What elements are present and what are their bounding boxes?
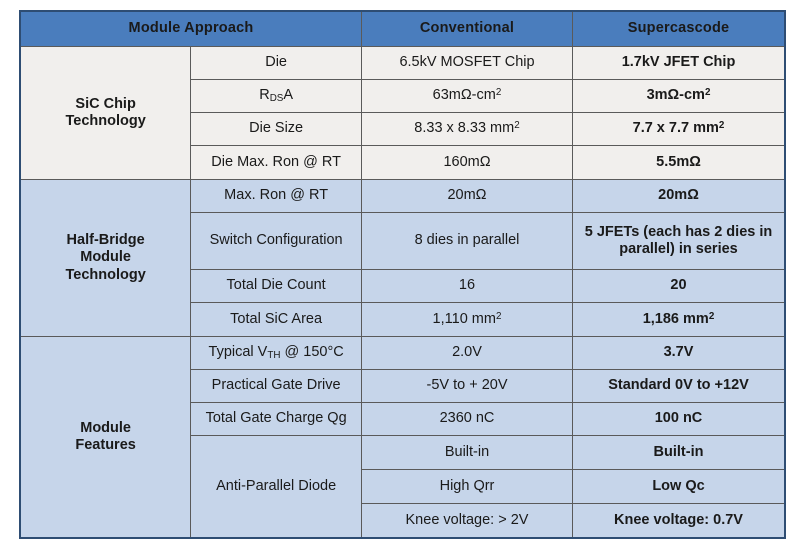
value-conventional-total-gate-charge-qg: 2360 nC [362, 403, 573, 436]
param-die-max-ron-rt: Die Max. Ron @ RT [191, 146, 362, 180]
param-total-die-count: Total Die Count [191, 270, 362, 303]
value-conventional-total-die-count: 16 [362, 270, 573, 303]
value-conventional-practical-gate-drive: -5V to + 20V [362, 370, 573, 403]
value-supercascode-total-gate-charge-qg: 100 nC [573, 403, 786, 436]
param-total-gate-charge-qg: Total Gate Charge Qg [191, 403, 362, 436]
group-label-line-2: Module [80, 249, 131, 265]
value-supercascode-practical-gate-drive: Standard 0V to +12V [573, 370, 786, 403]
value-conventional-switch-configuration: 8 dies in parallel [362, 213, 573, 270]
header-supercascode: Supercascode [573, 11, 786, 47]
table-row: Module Features Typical VTH @ 150°C 2.0V… [20, 337, 785, 370]
value-conventional-die: 6.5kV MOSFET Chip [362, 47, 573, 80]
group-label-line-1: Half-Bridge [67, 232, 145, 248]
value-conventional-total-sic-area: 1,110 mm2 [362, 303, 573, 337]
page-root: Module Approach Conventional Supercascod… [0, 0, 800, 552]
group-label-line-2: Features [75, 437, 135, 453]
header-module-approach: Module Approach [20, 11, 362, 47]
param-total-sic-area: Total SiC Area [191, 303, 362, 337]
value-supercascode-switch-configuration: 5 JFETs (each has 2 dies in parallel) in… [573, 213, 786, 270]
value-conventional-diode-builtin: Built-in [362, 436, 573, 470]
param-switch-configuration: Switch Configuration [191, 213, 362, 270]
param-anti-parallel-diode: Anti-Parallel Diode [191, 436, 362, 539]
group-label-half-bridge-module-technology: Half-Bridge Module Technology [20, 180, 191, 337]
table-row: SiC Chip Technology Die 6.5kV MOSFET Chi… [20, 47, 785, 80]
value-supercascode-die-size: 7.7 x 7.7 mm2 [573, 113, 786, 146]
header-row: Module Approach Conventional Supercascod… [20, 11, 785, 47]
value-supercascode-typical-vth: 3.7V [573, 337, 786, 370]
value-supercascode-die: 1.7kV JFET Chip [573, 47, 786, 80]
value-supercascode-rdsa: 3mΩ-cm2 [573, 80, 786, 113]
group-label-line-1: Module [80, 420, 131, 436]
param-die: Die [191, 47, 362, 80]
table-header: Module Approach Conventional Supercascod… [20, 11, 785, 47]
value-conventional-die-max-ron-rt: 160mΩ [362, 146, 573, 180]
value-supercascode-die-max-ron-rt: 5.5mΩ [573, 146, 786, 180]
value-conventional-diode-knee-voltage: Knee voltage: > 2V [362, 504, 573, 539]
header-conventional: Conventional [362, 11, 573, 47]
module-approach-comparison-table: Module Approach Conventional Supercascod… [19, 10, 786, 539]
value-conventional-rdsa: 63mΩ-cm2 [362, 80, 573, 113]
value-conventional-die-size: 8.33 x 8.33 mm2 [362, 113, 573, 146]
value-supercascode-diode-builtin: Built-in [573, 436, 786, 470]
group-label-module-features: Module Features [20, 337, 191, 539]
group-label-sic-chip-technology: SiC Chip Technology [20, 47, 191, 180]
param-max-ron-rt: Max. Ron @ RT [191, 180, 362, 213]
param-rdsa: RDSA [191, 80, 362, 113]
table-body: SiC Chip Technology Die 6.5kV MOSFET Chi… [20, 47, 785, 539]
param-practical-gate-drive: Practical Gate Drive [191, 370, 362, 403]
group-label-line-3: Technology [65, 267, 145, 283]
param-die-size: Die Size [191, 113, 362, 146]
value-supercascode-total-die-count: 20 [573, 270, 786, 303]
param-typical-vth: Typical VTH @ 150°C [191, 337, 362, 370]
value-supercascode-total-sic-area: 1,186 mm2 [573, 303, 786, 337]
table-row: Half-Bridge Module Technology Max. Ron @… [20, 180, 785, 213]
value-conventional-diode-qrr: High Qrr [362, 470, 573, 504]
value-conventional-max-ron-rt: 20mΩ [362, 180, 573, 213]
group-label-line-1: SiC Chip [75, 96, 135, 112]
value-supercascode-diode-qc: Low Qc [573, 470, 786, 504]
value-supercascode-max-ron-rt: 20mΩ [573, 180, 786, 213]
value-supercascode-diode-knee-voltage: Knee voltage: 0.7V [573, 504, 786, 539]
value-conventional-typical-vth: 2.0V [362, 337, 573, 370]
group-label-line-2: Technology [65, 113, 145, 129]
